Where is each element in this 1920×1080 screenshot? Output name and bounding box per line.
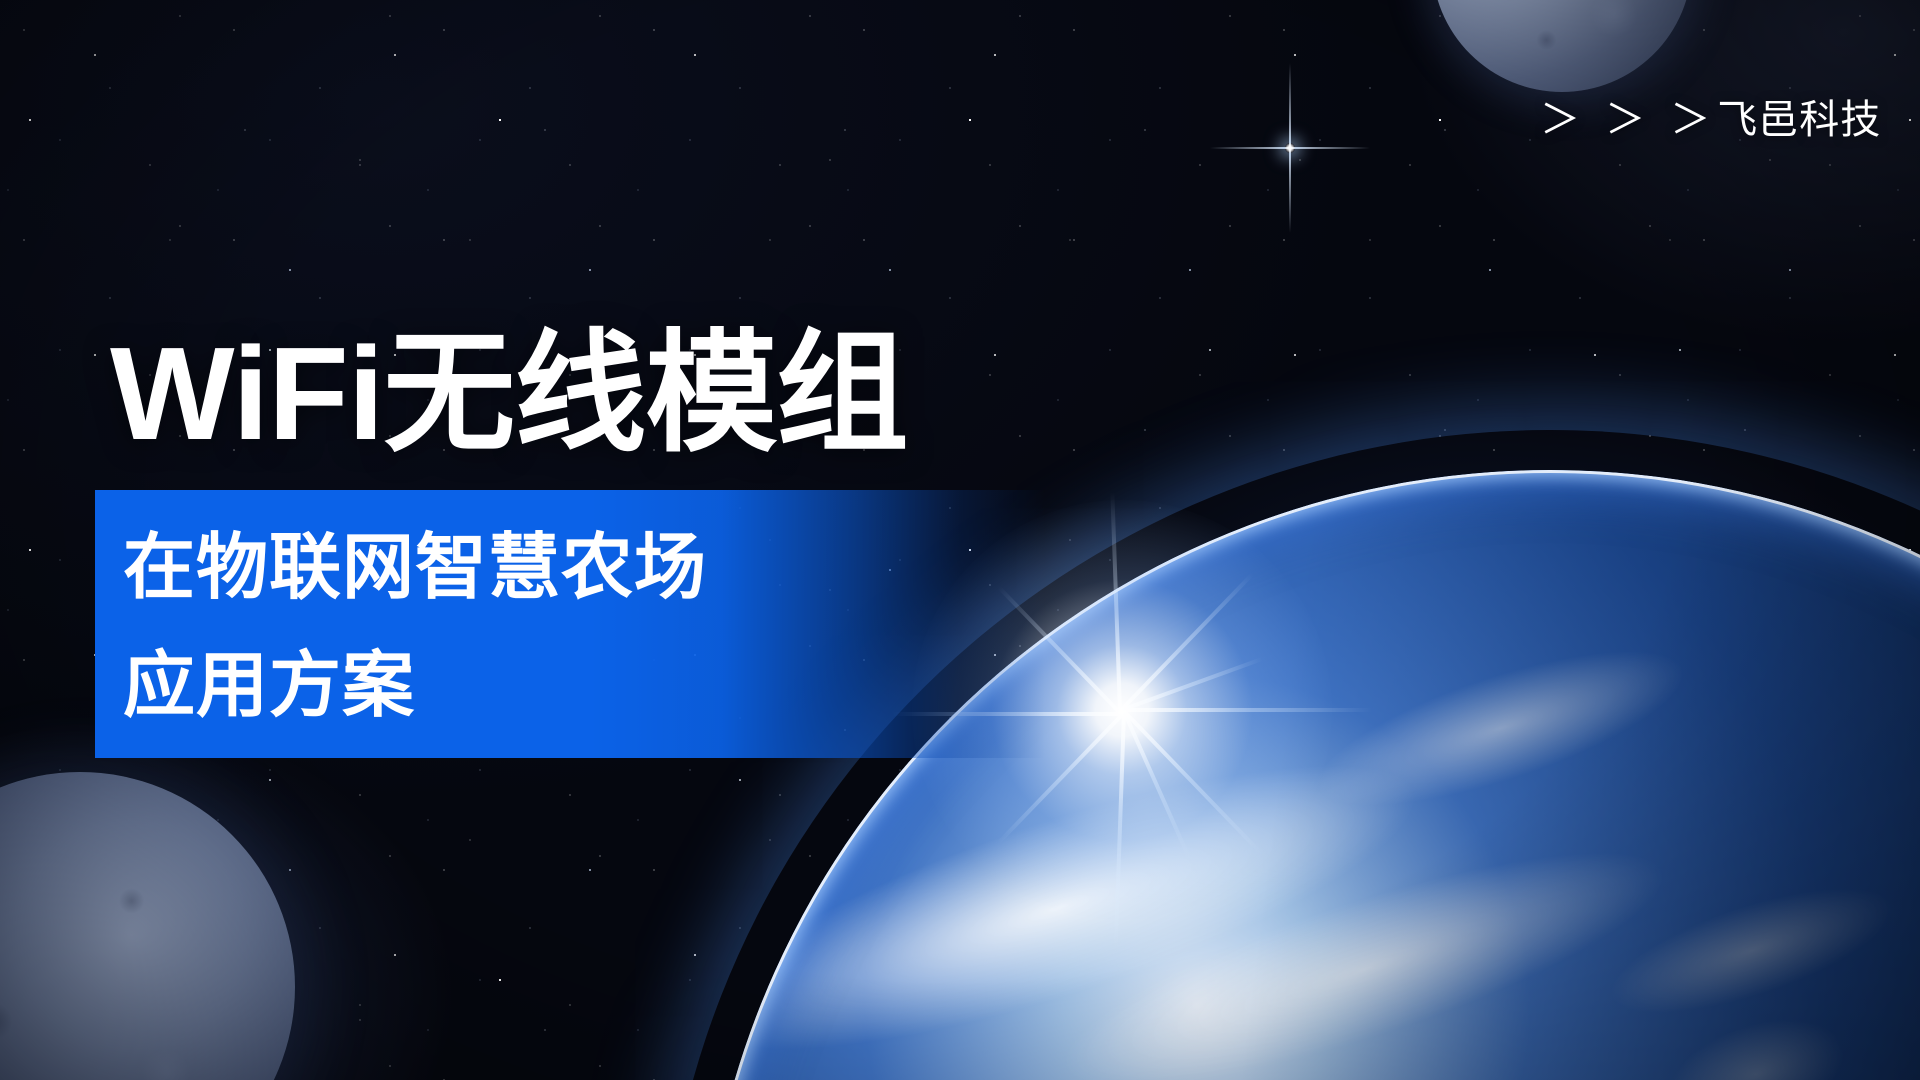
page-title: WiFi无线模组 [110, 325, 907, 464]
chevron-right-icon: ＞ ＞ ＞ [1540, 98, 1717, 142]
poster-canvas: ＞ ＞ ＞飞邑科技 WiFi无线模组 在物联网智慧农场 应用方案 [0, 0, 1920, 1080]
subtitle-line-1: 在物联网智慧农场 [123, 532, 707, 604]
subtitle-line-2: 应用方案 [123, 650, 415, 722]
brand-name: 飞邑科技 [1717, 98, 1881, 142]
subtitle-panel: 在物联网智慧农场 应用方案 [95, 490, 1045, 758]
brand-logo: ＞ ＞ ＞飞邑科技 [1540, 100, 1881, 140]
